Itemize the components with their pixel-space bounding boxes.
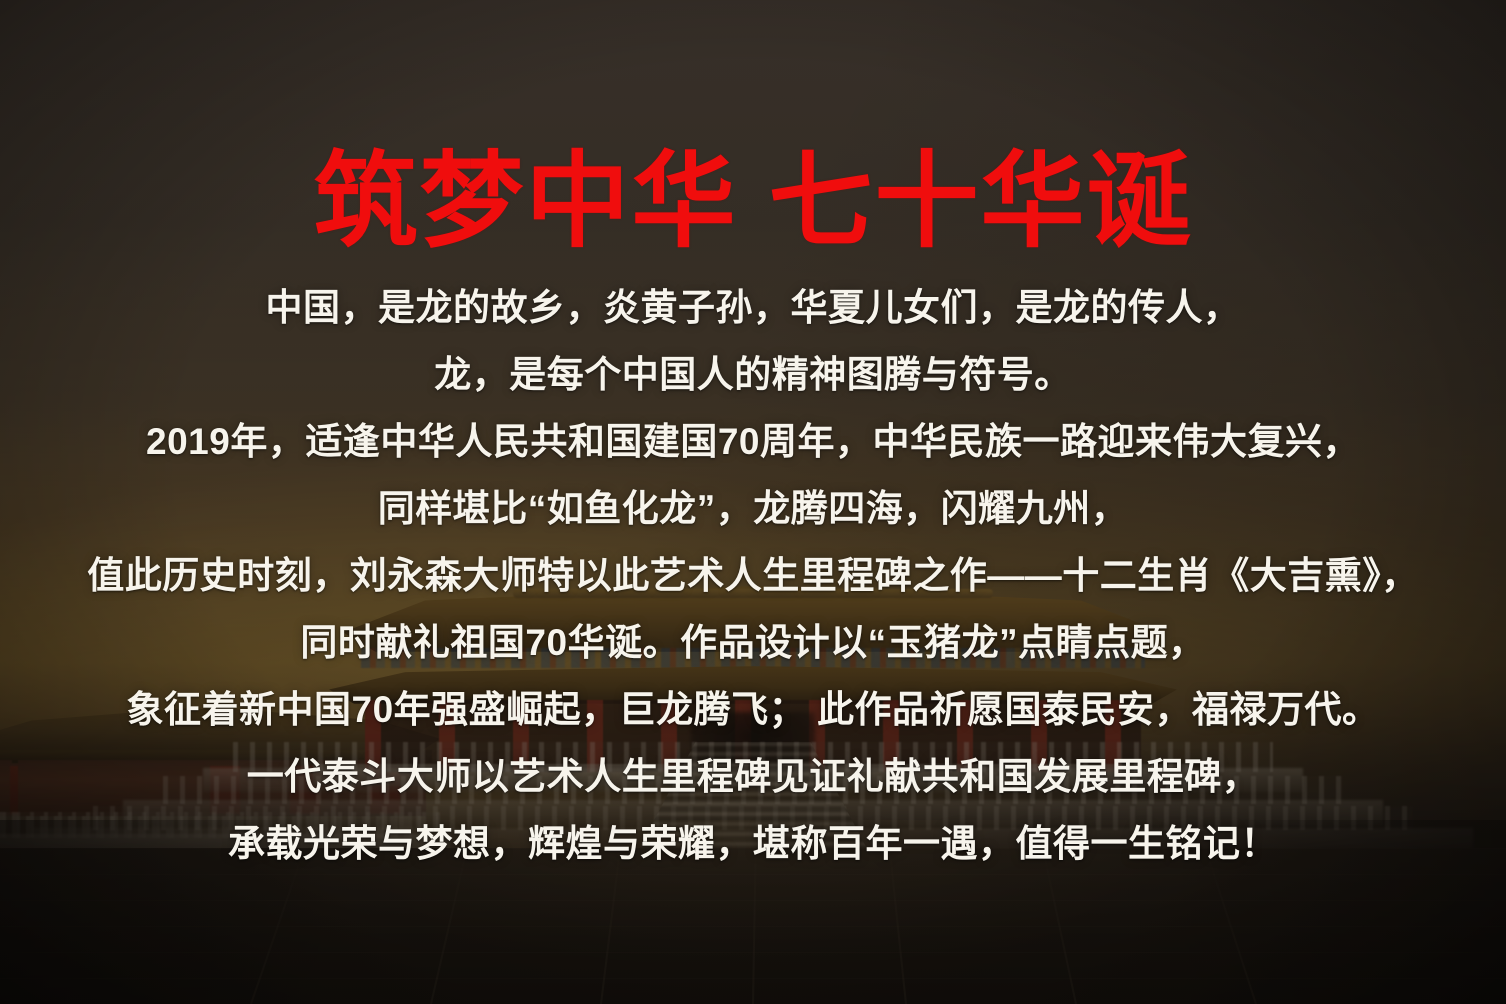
body-line: 象征着新中国70年强盛崛起，巨龙腾飞； 此作品祈愿国泰民安，福禄万代。 (0, 676, 1506, 743)
body-line: 中国，是龙的故乡，炎黄子孙，华夏儿女们，是龙的传人， (0, 274, 1506, 341)
body-line: 2019年，适逢中华人民共和国建国70周年，中华民族一路迎来伟大复兴， (0, 408, 1506, 475)
body-line: 一代泰斗大师以艺术人生里程碑见证礼献共和国发展里程碑， (0, 743, 1506, 810)
body-line: 承载光荣与梦想，辉煌与荣耀，堪称百年一遇，值得一生铭记！ (0, 810, 1506, 877)
page-title: 筑梦中华 七十华诞 (0, 146, 1506, 258)
body-text-block: 中国，是龙的故乡，炎黄子孙，华夏儿女们，是龙的传人， 龙，是每个中国人的精神图腾… (0, 274, 1506, 877)
body-line: 同样堪比“如鱼化龙”，龙腾四海，闪耀九州， (0, 475, 1506, 542)
poster-root: 筑梦中华 七十华诞 中国，是龙的故乡，炎黄子孙，华夏儿女们，是龙的传人， 龙，是… (0, 0, 1506, 1004)
poster-content: 筑梦中华 七十华诞 中国，是龙的故乡，炎黄子孙，华夏儿女们，是龙的传人， 龙，是… (0, 0, 1506, 1004)
body-line: 龙，是每个中国人的精神图腾与符号。 (0, 341, 1506, 408)
body-line: 同时献礼祖国70华诞。作品设计以“玉猪龙”点睛点题， (0, 609, 1506, 676)
body-line: 值此历史时刻，刘永森大师特以此艺术人生里程碑之作——十二生肖《大吉熏》， (0, 542, 1506, 609)
